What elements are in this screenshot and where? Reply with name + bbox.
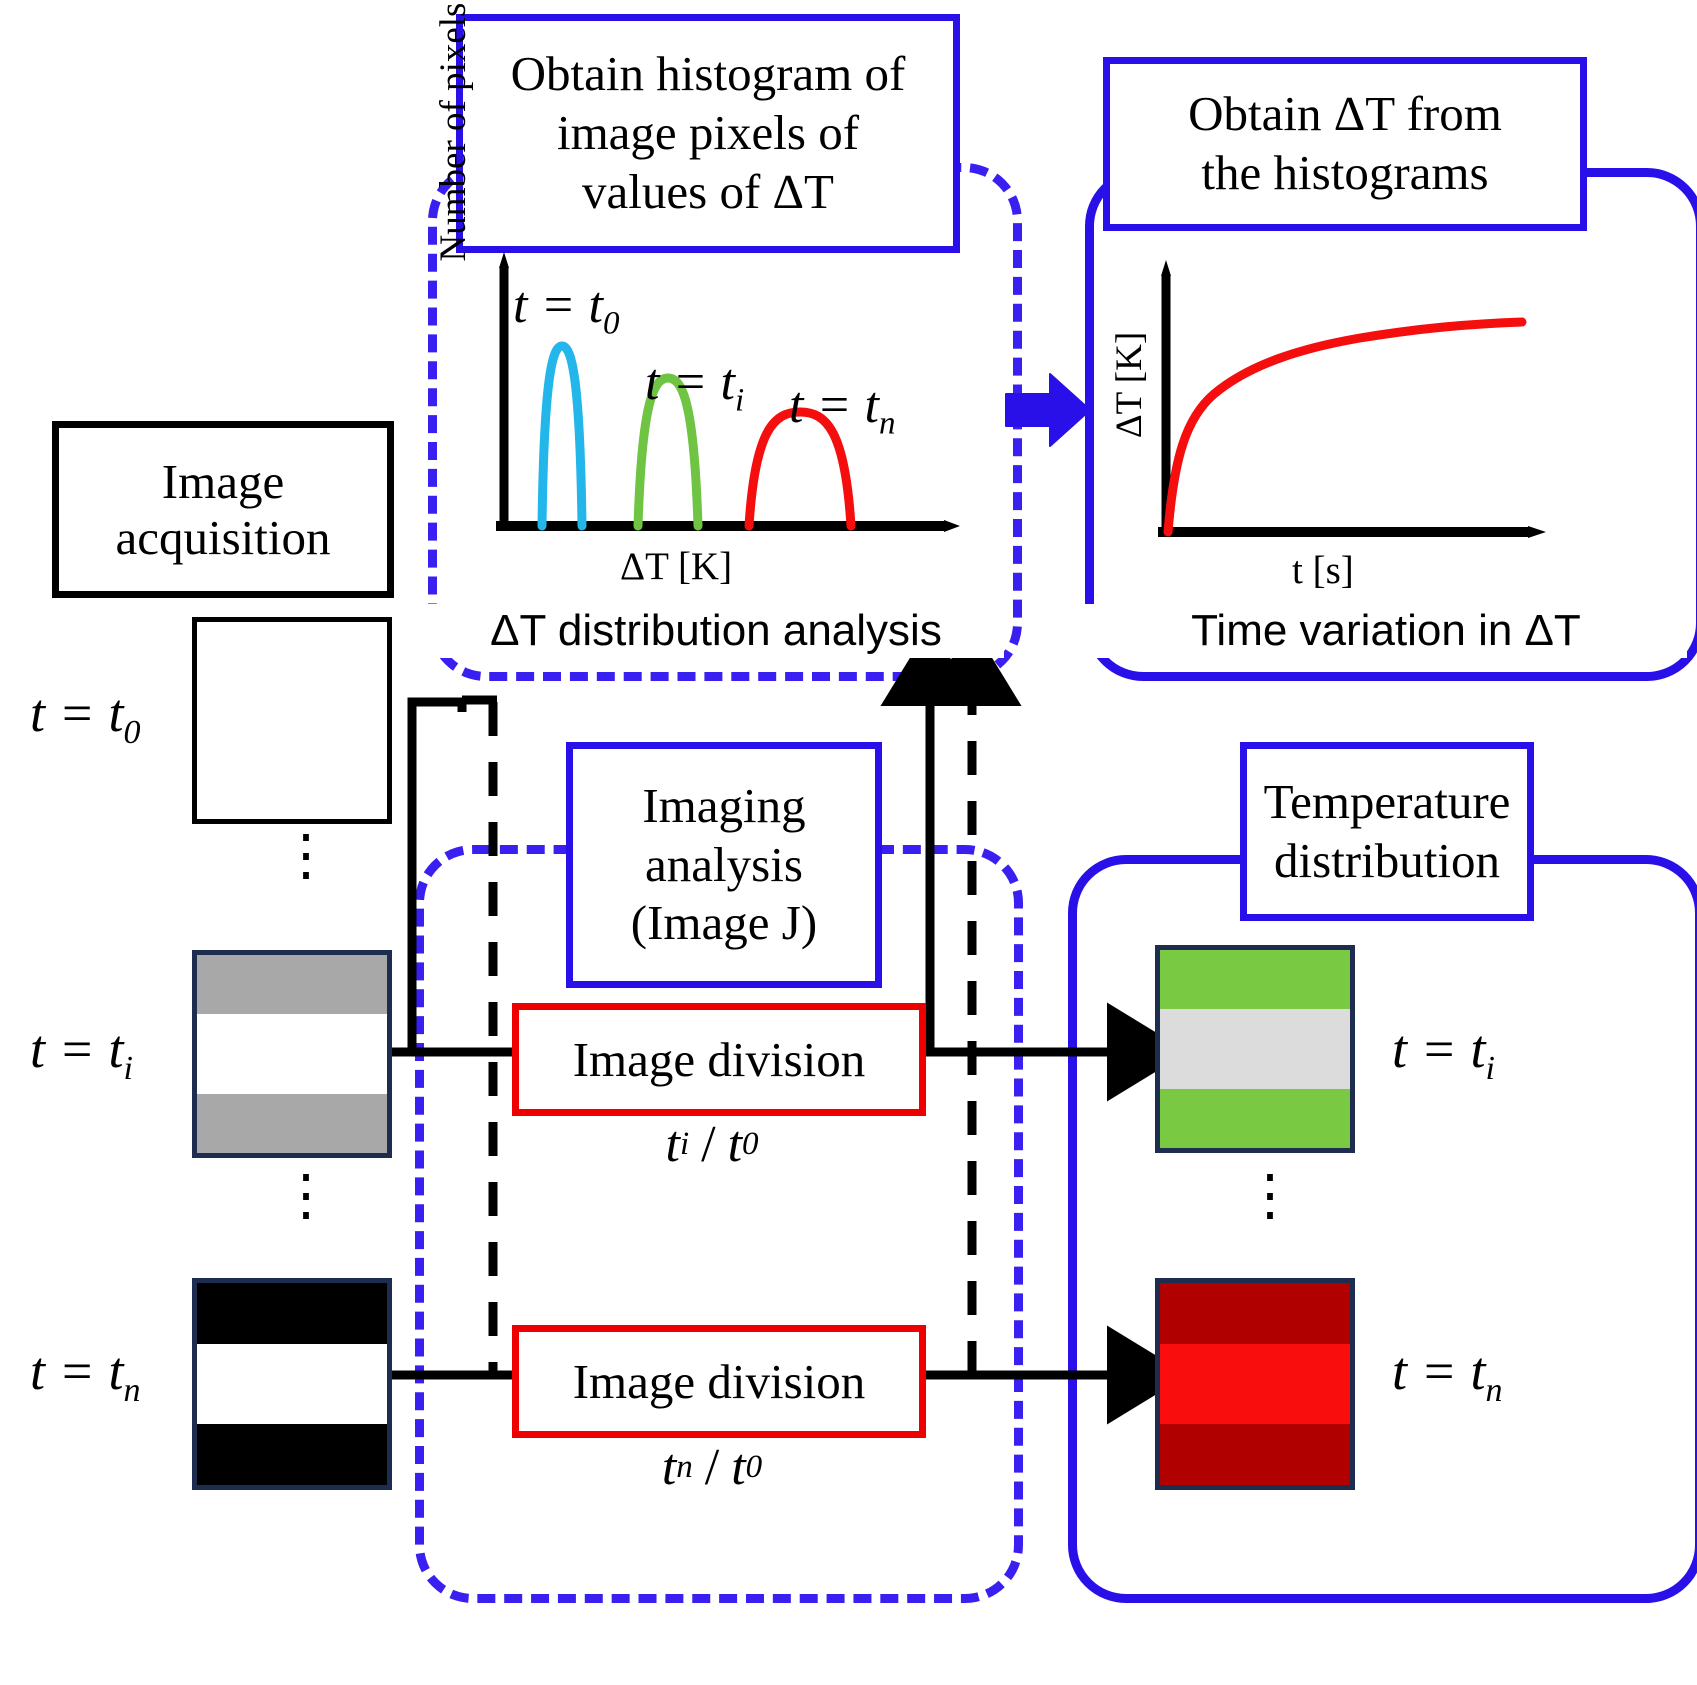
ratio-tn-denominator-sub: 0 [746, 1449, 763, 1486]
obtain-histogram-label: Obtain histogram of image pixels of valu… [511, 45, 906, 221]
histogram-annotation-ti: t = ti [645, 353, 744, 419]
obtain-dt-label: Obtain ΔT from the histograms [1188, 85, 1502, 203]
histogram-annotation-tn: t = tn [789, 376, 895, 442]
label-tn-sub: n [123, 1372, 140, 1409]
label-t-equals-t0: t = t0 [30, 682, 140, 752]
time-variation-xlabel: t [s] [1292, 548, 1354, 593]
vdots-glyph: ⋮ [1242, 1165, 1298, 1227]
imaging-analysis-box[interactable]: Imaging analysis (Image J) [566, 742, 882, 988]
dt-distribution-analysis-caption: ΔT distribution analysis [428, 604, 1004, 658]
histogram-ylabel-text: Number of pixels [433, 3, 474, 262]
label-tn-text: t = t [30, 1341, 123, 1401]
output-label-ti-sub: i [1485, 1050, 1494, 1087]
histogram-xlabel-text: ΔT [K] [620, 545, 732, 588]
vdots-acq-1: ⋮ [278, 840, 334, 874]
output-label-ti-text: t = t [1392, 1019, 1485, 1079]
output-label-t-equals-ti: t = ti [1392, 1018, 1495, 1088]
tile-band-top [197, 622, 387, 687]
vdots-acq-2: ⋮ [278, 1180, 334, 1214]
ratio-ti-denominator: t [728, 1115, 742, 1174]
acquisition-tile-ti[interactable] [192, 950, 392, 1158]
acquisition-tile-tn[interactable] [192, 1278, 392, 1490]
label-ti-sub: i [123, 1050, 132, 1087]
blue-block-arrow-icon [1004, 370, 1092, 450]
time-variation-caption-text: Time variation in ΔT [1191, 606, 1581, 656]
annotation-t0-text: t = t [513, 277, 603, 334]
time-variation-ylabel-text: ΔT [K] [1109, 332, 1150, 438]
histogram-ylabel: Number of pixels [432, 2, 472, 262]
imaging-analysis-label: Imaging analysis (Image J) [631, 777, 817, 953]
ratio-ti-slash: / [689, 1115, 727, 1174]
image-division-box-ti[interactable]: Image division [512, 1003, 926, 1116]
image-division-label-ti: Image division [573, 1031, 866, 1088]
vdots-glyph: ⋮ [278, 825, 334, 887]
image-division-label-tn: Image division [573, 1353, 866, 1410]
tile-band-mid [1160, 1344, 1350, 1425]
vdots-glyph: ⋮ [278, 1165, 334, 1227]
annotation-ti-sub: i [735, 382, 744, 418]
ratio-tn-slash: / [693, 1438, 731, 1497]
time-variation-xlabel-text: t [s] [1292, 549, 1354, 592]
time-variation-chart [1130, 258, 1570, 558]
output-tile-ti[interactable] [1155, 945, 1355, 1153]
image-division-ratio-tn: tn/t0 [512, 1436, 912, 1498]
time-variation-ylabel: ΔT [K] [1108, 290, 1148, 480]
annotation-t0-sub: 0 [603, 305, 620, 341]
ratio-tn-numerator: t [662, 1438, 676, 1497]
ratio-ti-denominator-sub: 0 [742, 1126, 759, 1163]
tile-band-bottom [197, 1424, 387, 1485]
image-acquisition-box[interactable]: Image acquisition [52, 421, 394, 598]
tile-band-top [1160, 1283, 1350, 1344]
tile-band-mid [197, 1344, 387, 1425]
obtain-histogram-box[interactable]: Obtain histogram of image pixels of valu… [456, 14, 960, 253]
ratio-ti-numerator-sub: i [680, 1126, 689, 1163]
label-t0-text: t = t [30, 683, 123, 743]
tile-band-bottom [1160, 1089, 1350, 1148]
image-division-box-tn[interactable]: Image division [512, 1325, 926, 1438]
tile-band-top [197, 955, 387, 1014]
ratio-ti-numerator: t [665, 1115, 679, 1174]
tile-band-top [1160, 950, 1350, 1009]
time-variation-caption: Time variation in ΔT [1085, 604, 1687, 658]
output-label-tn-sub: n [1485, 1372, 1502, 1409]
obtain-dt-box[interactable]: Obtain ΔT from the histograms [1103, 57, 1587, 231]
tile-band-bottom [197, 754, 387, 819]
tile-band-bottom [1160, 1424, 1350, 1485]
temperature-distribution-label: Temperature distribution [1264, 773, 1511, 891]
label-ti-text: t = t [30, 1019, 123, 1079]
tile-band-top [197, 1283, 387, 1344]
annotation-ti-text: t = t [645, 354, 735, 411]
ratio-tn-numerator-sub: n [676, 1449, 693, 1486]
vdots-out-1: ⋮ [1242, 1180, 1298, 1214]
tile-band-mid [197, 1014, 387, 1093]
histogram-xlabel: ΔT [K] [620, 544, 732, 589]
output-label-tn-text: t = t [1392, 1341, 1485, 1401]
image-acquisition-label: Image acquisition [59, 454, 387, 566]
label-t0-sub: 0 [123, 714, 140, 751]
annotation-tn-sub: n [879, 405, 896, 441]
acquisition-tile-t0[interactable] [192, 617, 392, 824]
image-division-ratio-ti: ti/t0 [512, 1113, 912, 1175]
tile-band-bottom [197, 1094, 387, 1153]
tile-band-mid [1160, 1009, 1350, 1088]
output-tile-tn[interactable] [1155, 1278, 1355, 1490]
dt-distribution-analysis-caption-text: ΔT distribution analysis [490, 606, 942, 656]
output-label-t-equals-tn: t = tn [1392, 1340, 1502, 1410]
ratio-tn-denominator: t [731, 1438, 745, 1497]
label-t-equals-tn: t = tn [30, 1340, 140, 1410]
histogram-annotation-t0: t = t0 [513, 276, 619, 342]
tile-band-mid [197, 687, 387, 754]
annotation-tn-text: t = t [789, 377, 879, 434]
label-t-equals-ti: t = ti [30, 1018, 133, 1088]
temperature-distribution-box[interactable]: Temperature distribution [1240, 742, 1534, 921]
